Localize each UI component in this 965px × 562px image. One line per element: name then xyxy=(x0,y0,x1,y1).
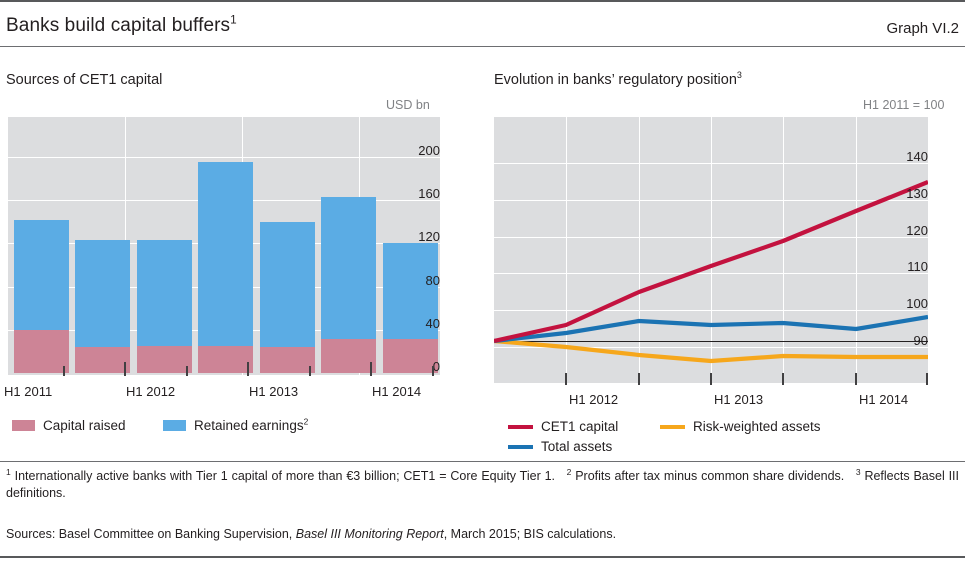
legend-item-total-assets: Total assets xyxy=(508,439,612,454)
right-line-chart-svg xyxy=(494,117,928,383)
legend-swatch-capital-raised xyxy=(12,420,35,431)
right-ytick-130: 130 xyxy=(886,186,928,201)
legend-label-retained-earnings: Retained earnings2 xyxy=(194,418,308,433)
bar-capital-3 xyxy=(137,346,192,373)
left-xtick-6 xyxy=(370,362,372,376)
left-panel-unit: USD bn xyxy=(386,98,430,112)
left-ytick-160: 160 xyxy=(398,186,440,201)
page-title-text: Banks build capital buffers xyxy=(6,15,230,36)
legend-item-capital-raised: Capital raised xyxy=(12,418,126,433)
right-panel-unit: H1 2011 = 100 xyxy=(863,98,944,112)
footnote-text-1: Internationally active banks with Tier 1… xyxy=(15,469,555,483)
series-line-risk-weighted-assets xyxy=(494,341,928,361)
left-xtick-5 xyxy=(309,366,311,376)
gridline-200 xyxy=(8,157,440,158)
bar-capital-1 xyxy=(14,330,69,373)
right-xlabel-h1-2012: H1 2012 xyxy=(569,392,618,407)
divider-top xyxy=(0,0,965,2)
right-xtick-3 xyxy=(710,373,712,385)
footnote-text-2: Profits after tax minus common share div… xyxy=(575,469,844,483)
right-xtick-4 xyxy=(782,373,784,385)
legend-label-total-assets: Total assets xyxy=(541,439,612,454)
legend-item-risk-weighted-assets: Risk-weighted assets xyxy=(660,419,821,434)
right-panel-title-superscript: 3 xyxy=(737,70,742,80)
bar-capital-5 xyxy=(260,347,315,373)
sources-prefix: Sources: Basel Committee on Banking Supe… xyxy=(6,527,296,541)
left-xtick-3 xyxy=(186,366,188,376)
legend-item-cet1-capital: CET1 capital xyxy=(508,419,618,434)
right-xtick-1 xyxy=(565,373,567,385)
sources-report-title: Basel III Monitoring Report xyxy=(296,527,444,541)
right-ytick-110: 110 xyxy=(886,259,928,274)
left-ytick-120: 120 xyxy=(398,229,440,244)
right-xtick-2 xyxy=(638,373,640,385)
left-xlabel-h1-2011: H1 2011 xyxy=(4,384,52,399)
divider-above-footnotes xyxy=(0,461,965,462)
page-title: Banks build capital buffers1 xyxy=(6,15,237,37)
left-xtick-4 xyxy=(247,362,249,376)
left-xlabel-h1-2014: H1 2014 xyxy=(372,384,421,399)
legend-label-risk-weighted-assets: Risk-weighted assets xyxy=(693,419,821,434)
legend-swatch-cet1-capital xyxy=(508,425,533,429)
left-ytick-40: 40 xyxy=(398,316,440,331)
left-xtick-2 xyxy=(124,362,126,376)
right-panel-title-text: Evolution in banks’ regulatory position xyxy=(494,72,737,88)
right-xtick-5 xyxy=(855,373,857,385)
divider-bottom xyxy=(0,556,965,558)
left-panel-title: Sources of CET1 capital xyxy=(6,72,162,88)
bar-capital-2 xyxy=(75,347,130,373)
legend-swatch-total-assets xyxy=(508,445,533,449)
left-xtick-7 xyxy=(432,366,434,376)
right-plot-area xyxy=(494,117,928,383)
footnote-marker-2: 2 xyxy=(567,467,572,477)
right-ytick-140: 140 xyxy=(886,149,928,164)
left-ytick-200: 200 xyxy=(398,143,440,158)
page-title-superscript: 1 xyxy=(230,14,237,27)
right-xlabel-h1-2014: H1 2014 xyxy=(859,392,908,407)
left-xtick-1 xyxy=(63,366,65,376)
legend-swatch-risk-weighted-assets xyxy=(660,425,685,429)
bar-capital-4 xyxy=(198,346,253,373)
right-ytick-90: 90 xyxy=(886,333,928,348)
left-xlabel-h1-2012: H1 2012 xyxy=(126,384,175,399)
legend-item-retained-earnings: Retained earnings2 xyxy=(163,418,308,433)
right-ytick-120: 120 xyxy=(886,223,928,238)
legend-label-capital-raised: Capital raised xyxy=(43,418,126,433)
bar-capital-6 xyxy=(321,339,376,373)
series-line-cet1-capital xyxy=(494,182,928,341)
right-panel-title: Evolution in banks’ regulatory position3 xyxy=(494,72,742,88)
legend-label-cet1-capital: CET1 capital xyxy=(541,419,618,434)
right-xtick-6 xyxy=(926,373,928,385)
sources-suffix: , March 2015; BIS calculations. xyxy=(444,527,616,541)
left-xlabel-h1-2013: H1 2013 xyxy=(249,384,298,399)
graph-page: Banks build capital buffers1 Graph VI.2 … xyxy=(0,0,965,562)
left-plot-area xyxy=(8,117,440,375)
sources-line: Sources: Basel Committee on Banking Supe… xyxy=(6,527,616,541)
series-line-total-assets xyxy=(494,317,928,341)
right-xlabel-h1-2013: H1 2013 xyxy=(714,392,763,407)
footnotes-block: 1 Internationally active banks with Tier… xyxy=(6,468,959,502)
graph-number: Graph VI.2 xyxy=(886,20,959,37)
divider-under-title xyxy=(0,46,965,47)
bar-retained-4 xyxy=(198,162,253,373)
footnote-marker-3: 3 xyxy=(856,467,861,477)
right-ytick-100: 100 xyxy=(886,296,928,311)
footnote-marker-1: 1 xyxy=(6,467,11,477)
left-ytick-80: 80 xyxy=(398,273,440,288)
legend-swatch-retained-earnings xyxy=(163,420,186,431)
